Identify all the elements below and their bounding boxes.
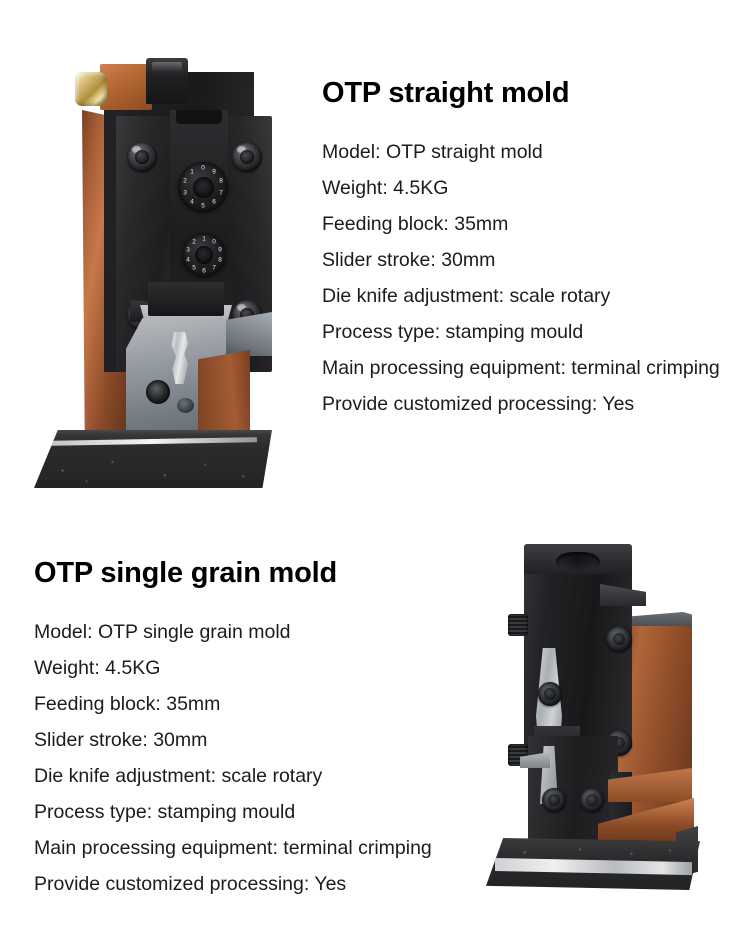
base-screw-left xyxy=(542,788,566,812)
granite-base-plate xyxy=(34,430,272,488)
scale-rotary-dial-lower: 1 2 3 4 5 6 7 8 9 0 xyxy=(182,233,226,277)
base-screw-right xyxy=(580,788,604,812)
knurled-adjust-screw-upper xyxy=(508,614,528,636)
product-spec-page: 0 1 2 3 4 5 6 7 8 9 1 2 3 xyxy=(0,0,750,931)
spec-item-provide-customized-processing: Provide customized processing: Yes xyxy=(322,386,742,422)
center-notch xyxy=(176,110,222,124)
dial-hub xyxy=(193,177,214,198)
product-2-spec-list: Model: OTP single grain mold Weight: 4.5… xyxy=(34,614,504,902)
black-top-cap xyxy=(146,58,188,104)
blade-clamp-screw xyxy=(538,682,562,706)
product-2-text-block: OTP single grain mold Model: OTP single … xyxy=(34,558,504,902)
base-texture xyxy=(486,838,700,890)
socket-screw-upper-right xyxy=(606,626,632,652)
spec-item-main-processing-equipment: Main processing equipment: terminal crim… xyxy=(34,830,504,866)
spec-item-weight: Weight: 4.5KG xyxy=(322,170,742,206)
anvil-block xyxy=(148,282,224,316)
product-1-title: OTP straight mold xyxy=(322,78,742,108)
spec-item-slider-stroke: Slider stroke: 30mm xyxy=(34,722,504,758)
spec-item-model: Model: OTP straight mold xyxy=(322,134,742,170)
spec-item-feeding-block: Feeding block: 35mm xyxy=(322,206,742,242)
otp-straight-mold-illustration: 0 1 2 3 4 5 6 7 8 9 1 2 3 xyxy=(30,50,300,495)
spec-item-die-knife-adjustment: Die knife adjustment: scale rotary xyxy=(322,278,742,314)
product-1-spec-list: Model: OTP straight mold Weight: 4.5KG F… xyxy=(322,134,742,422)
spec-item-process-type: Process type: stamping mould xyxy=(34,794,504,830)
spec-item-weight: Weight: 4.5KG xyxy=(34,650,504,686)
copper-side-plate-right xyxy=(198,350,250,442)
product-2-title: OTP single grain mold xyxy=(34,558,504,588)
spec-item-feeding-block: Feeding block: 35mm xyxy=(34,686,504,722)
ram-socket-recess xyxy=(556,552,600,572)
product-image-otp-straight-mold: 0 1 2 3 4 5 6 7 8 9 1 2 3 xyxy=(30,50,300,495)
spec-item-model: Model: OTP single grain mold xyxy=(34,614,504,650)
product-image-otp-single-grain-mold xyxy=(480,540,720,915)
granite-base-plate xyxy=(486,838,700,890)
base-texture xyxy=(34,430,272,488)
die-locator-pin xyxy=(177,398,194,413)
socket-bolt-top-right xyxy=(232,142,262,172)
spec-item-slider-stroke: Slider stroke: 30mm xyxy=(322,242,742,278)
scale-rotary-dial-upper: 0 1 2 3 4 5 6 7 8 9 xyxy=(178,162,228,212)
dial-hub xyxy=(195,246,213,264)
spec-item-process-type: Process type: stamping mould xyxy=(322,314,742,350)
spec-item-provide-customized-processing: Provide customized processing: Yes xyxy=(34,866,504,902)
spec-item-main-processing-equipment: Main processing equipment: terminal crim… xyxy=(322,350,742,386)
brass-hex-bolt-icon xyxy=(75,72,107,106)
die-bore-left xyxy=(146,380,170,404)
socket-bolt-top-left xyxy=(127,142,157,172)
spec-item-die-knife-adjustment: Die knife adjustment: scale rotary xyxy=(34,758,504,794)
product-1-text-block: OTP straight mold Model: OTP straight mo… xyxy=(322,78,742,422)
copper-top-cap xyxy=(100,64,152,110)
